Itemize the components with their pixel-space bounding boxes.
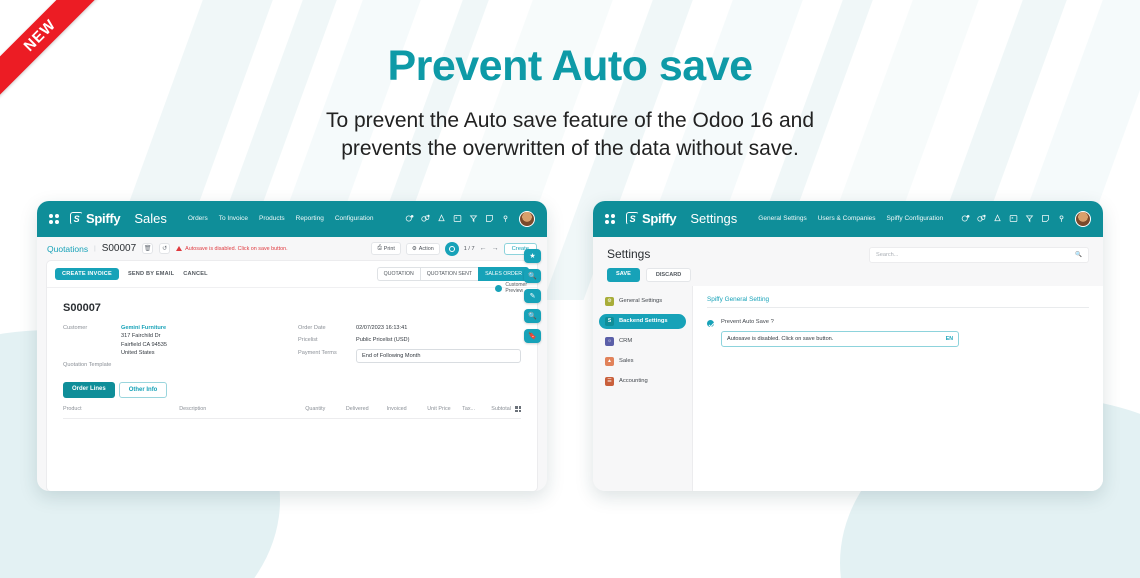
bell-icon[interactable]	[437, 214, 446, 223]
settings-menu: General Settings Users & Companies Spiff…	[758, 215, 943, 222]
app-name: Sales	[134, 211, 167, 226]
gear-icon: ⚙	[412, 246, 417, 252]
pricelist-value[interactable]: Public Pricelist (USD)	[356, 336, 409, 344]
note-icon[interactable]	[485, 214, 494, 223]
hero-subtitle-line1: To prevent the Auto save feature of the …	[0, 107, 1140, 135]
edit-icon[interactable]: ✎	[524, 289, 541, 303]
hero-section: Prevent Auto save To prevent the Auto sa…	[0, 0, 1140, 163]
stage-quotation-sent[interactable]: QUOTATION SENT	[420, 267, 478, 281]
brand-name: Spiffy	[642, 211, 676, 226]
messages-icon[interactable]	[421, 214, 430, 223]
search-icon[interactable]: 🔍	[524, 269, 541, 283]
sales-topbar: S Spiffy Sales Orders To Invoice Product…	[37, 201, 547, 237]
payment-terms-input[interactable]: End of Following Month	[356, 349, 521, 363]
column-header-invoiced: Invoiced	[387, 406, 428, 412]
column-options-icon[interactable]	[515, 406, 521, 412]
brand-logo[interactable]: S Spiffy	[626, 211, 676, 226]
customer-name-link[interactable]: Gemini Furniture	[121, 324, 167, 332]
payment-terms-field: Payment Terms End of Following Month	[298, 349, 521, 363]
breadcrumb-actions: ⎙ Print ⚙ Action 1 / 7 ← → Create	[371, 242, 537, 256]
print-label: Print	[384, 246, 395, 252]
sidebar-item-backend-settings[interactable]: S Backend Settings	[599, 314, 686, 329]
stage-sales-order[interactable]: SALES ORDER	[478, 267, 529, 281]
megaphone-icon[interactable]	[1025, 214, 1034, 223]
order-lines-table-header: Product Description Quantity Delivered I…	[63, 406, 521, 419]
brand-name: Spiffy	[86, 211, 120, 226]
menu-item-users-companies[interactable]: Users & Companies	[818, 215, 876, 222]
note-icon[interactable]	[1041, 214, 1050, 223]
quotation-template-label: Quotation Template	[63, 361, 111, 368]
spiffy-icon: S	[605, 317, 614, 326]
autosave-warning-text: Autosave is disabled. Click on save butt…	[185, 246, 287, 252]
print-button[interactable]: ⎙ Print	[371, 242, 400, 255]
column-header-tax: Tax...	[462, 406, 491, 412]
breadcrumb-parent[interactable]: Quotations	[47, 244, 88, 254]
right-field-column: Order Date 02/07/2023 16:13:41 Pricelist…	[298, 324, 521, 373]
quotation-template-field: Quotation Template	[63, 361, 278, 368]
menu-item-general-settings[interactable]: General Settings	[758, 215, 806, 222]
hero-subtitle-line2: prevents the overwritten of the data wit…	[0, 135, 1140, 163]
sheet-tabs: Order Lines Other Info	[63, 382, 521, 398]
settings-topbar: S Spiffy Settings General Settings Users…	[593, 201, 1103, 237]
order-date-label: Order Date	[298, 324, 356, 332]
settings-main-panel: Spiffy General Setting Prevent Auto Save…	[693, 286, 1103, 491]
create-invoice-button[interactable]: CREATE INVOICE	[55, 268, 119, 280]
screenshot-row: S Spiffy Sales Orders To Invoice Product…	[0, 201, 1140, 491]
section-title: Spiffy General Setting	[707, 296, 769, 308]
spiffy-mark-icon: S	[70, 212, 83, 225]
customer-address-3: United States	[121, 349, 167, 357]
column-header-subtotal: Subtotal	[491, 406, 511, 412]
action-button[interactable]: ⚙ Action	[406, 243, 440, 255]
customer-preview-button[interactable]: Customer Preview	[495, 283, 527, 295]
customer-field: Customer Gemini Furniture 317 Fairchild …	[63, 324, 278, 358]
pager-next-icon[interactable]: →	[492, 245, 499, 252]
gear-icon: ⚙	[605, 297, 614, 306]
accounting-icon: ☰	[605, 377, 614, 386]
customer-address-1: 317 Fairchild Dr	[121, 332, 167, 340]
pricelist-field: Pricelist Public Pricelist (USD)	[298, 336, 521, 344]
avatar[interactable]	[519, 211, 535, 227]
pin-icon[interactable]	[501, 214, 510, 223]
activity-icon[interactable]	[405, 214, 414, 223]
settings-screenshot-card: S Spiffy Settings General Settings Users…	[593, 201, 1103, 491]
sidebar-item-accounting[interactable]: ☰ Accounting	[599, 374, 686, 389]
sheet-body: S00007 Customer Gemini Furniture 317 Fai…	[47, 288, 537, 420]
sidebar-item-label: General Settings	[619, 298, 662, 304]
record-title: S00007	[63, 302, 521, 314]
print-icon: ⎙	[377, 245, 381, 252]
pager-counter: 1 / 7	[464, 246, 475, 252]
payment-terms-label: Payment Terms	[298, 349, 356, 363]
sales-icon: ▲	[605, 357, 614, 366]
trash-icon[interactable]: 🗑	[142, 243, 153, 254]
left-field-column: Customer Gemini Furniture 317 Fairchild …	[63, 324, 278, 373]
brand-logo[interactable]: S Spiffy	[70, 211, 120, 226]
menu-item-reporting[interactable]: Reporting	[296, 215, 324, 222]
apps-grid-icon[interactable]	[49, 214, 59, 224]
cancel-button[interactable]: CANCEL	[183, 271, 208, 277]
sales-order-sheet: CREATE INVOICE SEND BY EMAIL CANCEL QUOT…	[47, 261, 537, 491]
send-by-email-button[interactable]: SEND BY EMAIL	[128, 271, 174, 277]
sidebar-item-label: Accounting	[619, 378, 648, 384]
menu-item-products[interactable]: Products	[259, 215, 285, 222]
sidebar-item-general-settings[interactable]: ⚙ General Settings	[599, 294, 686, 309]
sidebar-item-sales[interactable]: ▲ Sales	[599, 354, 686, 369]
new-ribbon-label: NEW	[0, 0, 110, 105]
grid-icon[interactable]	[1009, 214, 1018, 223]
search-placeholder: Search...	[876, 252, 898, 258]
breadcrumb-separator: |	[94, 246, 96, 252]
sales-side-rail: ★ 🔍 ✎ 🔍 🔖	[524, 249, 541, 343]
settings-body: Settings SAVE DISCARD Search... 🔍 ⚙ Gene…	[593, 237, 1103, 491]
bookmark-icon[interactable]: 🔖	[524, 329, 541, 343]
column-header-product: Product	[63, 406, 179, 412]
sales-menu: Orders To Invoice Products Reporting Con…	[188, 215, 374, 222]
page-title: Prevent Auto save	[0, 42, 1140, 91]
save-record-icon	[449, 246, 455, 252]
status-action-row: CREATE INVOICE SEND BY EMAIL CANCEL QUOT…	[47, 261, 537, 288]
bell-icon[interactable]	[993, 214, 1002, 223]
customer-preview-line2: Preview	[505, 288, 523, 294]
spiffy-mark-icon: S	[626, 212, 639, 225]
pin-icon[interactable]	[1057, 214, 1066, 223]
apps-grid-icon[interactable]	[605, 214, 615, 224]
save-record-button[interactable]	[445, 242, 459, 256]
settings-split: ⚙ General Settings S Backend Settings ☼ …	[593, 286, 1103, 491]
autosave-message-input[interactable]: Autosave is disabled. Click on save butt…	[721, 331, 959, 347]
prevent-auto-save-checkbox[interactable]	[707, 320, 714, 327]
menu-item-spiffy-configuration[interactable]: Spiffy Configuration	[887, 215, 944, 222]
sales-topbar-icons	[405, 211, 535, 227]
sidebar-item-crm[interactable]: ☼ CRM	[599, 334, 686, 349]
crm-icon: ☼	[605, 337, 614, 346]
undo-icon[interactable]: ↺	[159, 243, 170, 254]
prevent-auto-save-option: Prevent Auto Save ? Autosave is disabled…	[707, 319, 1089, 347]
grid-icon[interactable]	[453, 214, 462, 223]
breadcrumb-bar: Quotations | S00007 🗑 ↺ Autosave is disa…	[37, 237, 547, 261]
customer-label: Customer	[63, 324, 121, 358]
column-header-unit-price: Unit Price	[427, 406, 462, 412]
messages-icon[interactable]	[977, 214, 986, 223]
autosave-warning: Autosave is disabled. Click on save butt…	[176, 246, 287, 252]
sidebar-item-label: Backend Settings	[619, 318, 668, 324]
action-label: Action	[419, 246, 434, 252]
autosave-message-value: Autosave is disabled. Click on save butt…	[727, 336, 833, 342]
column-header-delivered: Delivered	[346, 406, 387, 412]
globe-icon	[495, 285, 502, 292]
menu-item-orders[interactable]: Orders	[188, 215, 208, 222]
prevent-auto-save-label: Prevent Auto Save ?	[721, 319, 959, 325]
column-header-subtotal-group: Subtotal	[491, 406, 521, 412]
order-date-field: Order Date 02/07/2023 16:13:41	[298, 324, 521, 332]
stage-statusbar: QUOTATION QUOTATION SENT SALES ORDER	[377, 267, 529, 281]
settings-topbar-icons	[961, 211, 1091, 227]
sales-screenshot-card: S Spiffy Sales Orders To Invoice Product…	[37, 201, 547, 491]
pricelist-label: Pricelist	[298, 336, 356, 344]
sidebar-item-label: Sales	[619, 358, 634, 364]
megaphone-icon[interactable]	[469, 214, 478, 223]
discard-button[interactable]: DISCARD	[646, 268, 691, 282]
sidebar-item-label: CRM	[619, 338, 632, 344]
avatar[interactable]	[1075, 211, 1091, 227]
search-input[interactable]: Search... 🔍	[869, 247, 1089, 263]
breadcrumb-current: S00007	[102, 243, 136, 254]
tab-order-lines[interactable]: Order Lines	[63, 382, 115, 398]
language-badge[interactable]: EN	[946, 336, 953, 342]
tab-other-info[interactable]: Other Info	[119, 382, 168, 398]
column-header-description: Description	[179, 406, 305, 412]
app-name: Settings	[690, 211, 737, 226]
menu-item-to-invoice[interactable]: To Invoice	[219, 215, 248, 222]
settings-sidebar: ⚙ General Settings S Backend Settings ☼ …	[593, 286, 693, 491]
menu-item-configuration[interactable]: Configuration	[335, 215, 374, 222]
activity-icon[interactable]	[961, 214, 970, 223]
save-button[interactable]: SAVE	[607, 268, 640, 282]
customer-address-2: Fairfield CA 94535	[121, 341, 167, 349]
settings-action-row: SAVE DISCARD	[607, 268, 1089, 282]
order-date-value[interactable]: 02/07/2023 16:13:41	[356, 324, 407, 332]
zoom-icon[interactable]: 🔍	[524, 309, 541, 323]
star-icon[interactable]: ★	[524, 249, 541, 263]
new-ribbon: NEW	[0, 0, 118, 118]
search-icon[interactable]: 🔍	[1075, 252, 1082, 258]
pager-prev-icon[interactable]: ←	[480, 245, 487, 252]
stage-quotation[interactable]: QUOTATION	[377, 267, 420, 281]
warning-triangle-icon	[176, 246, 182, 251]
column-header-quantity: Quantity	[305, 406, 346, 412]
